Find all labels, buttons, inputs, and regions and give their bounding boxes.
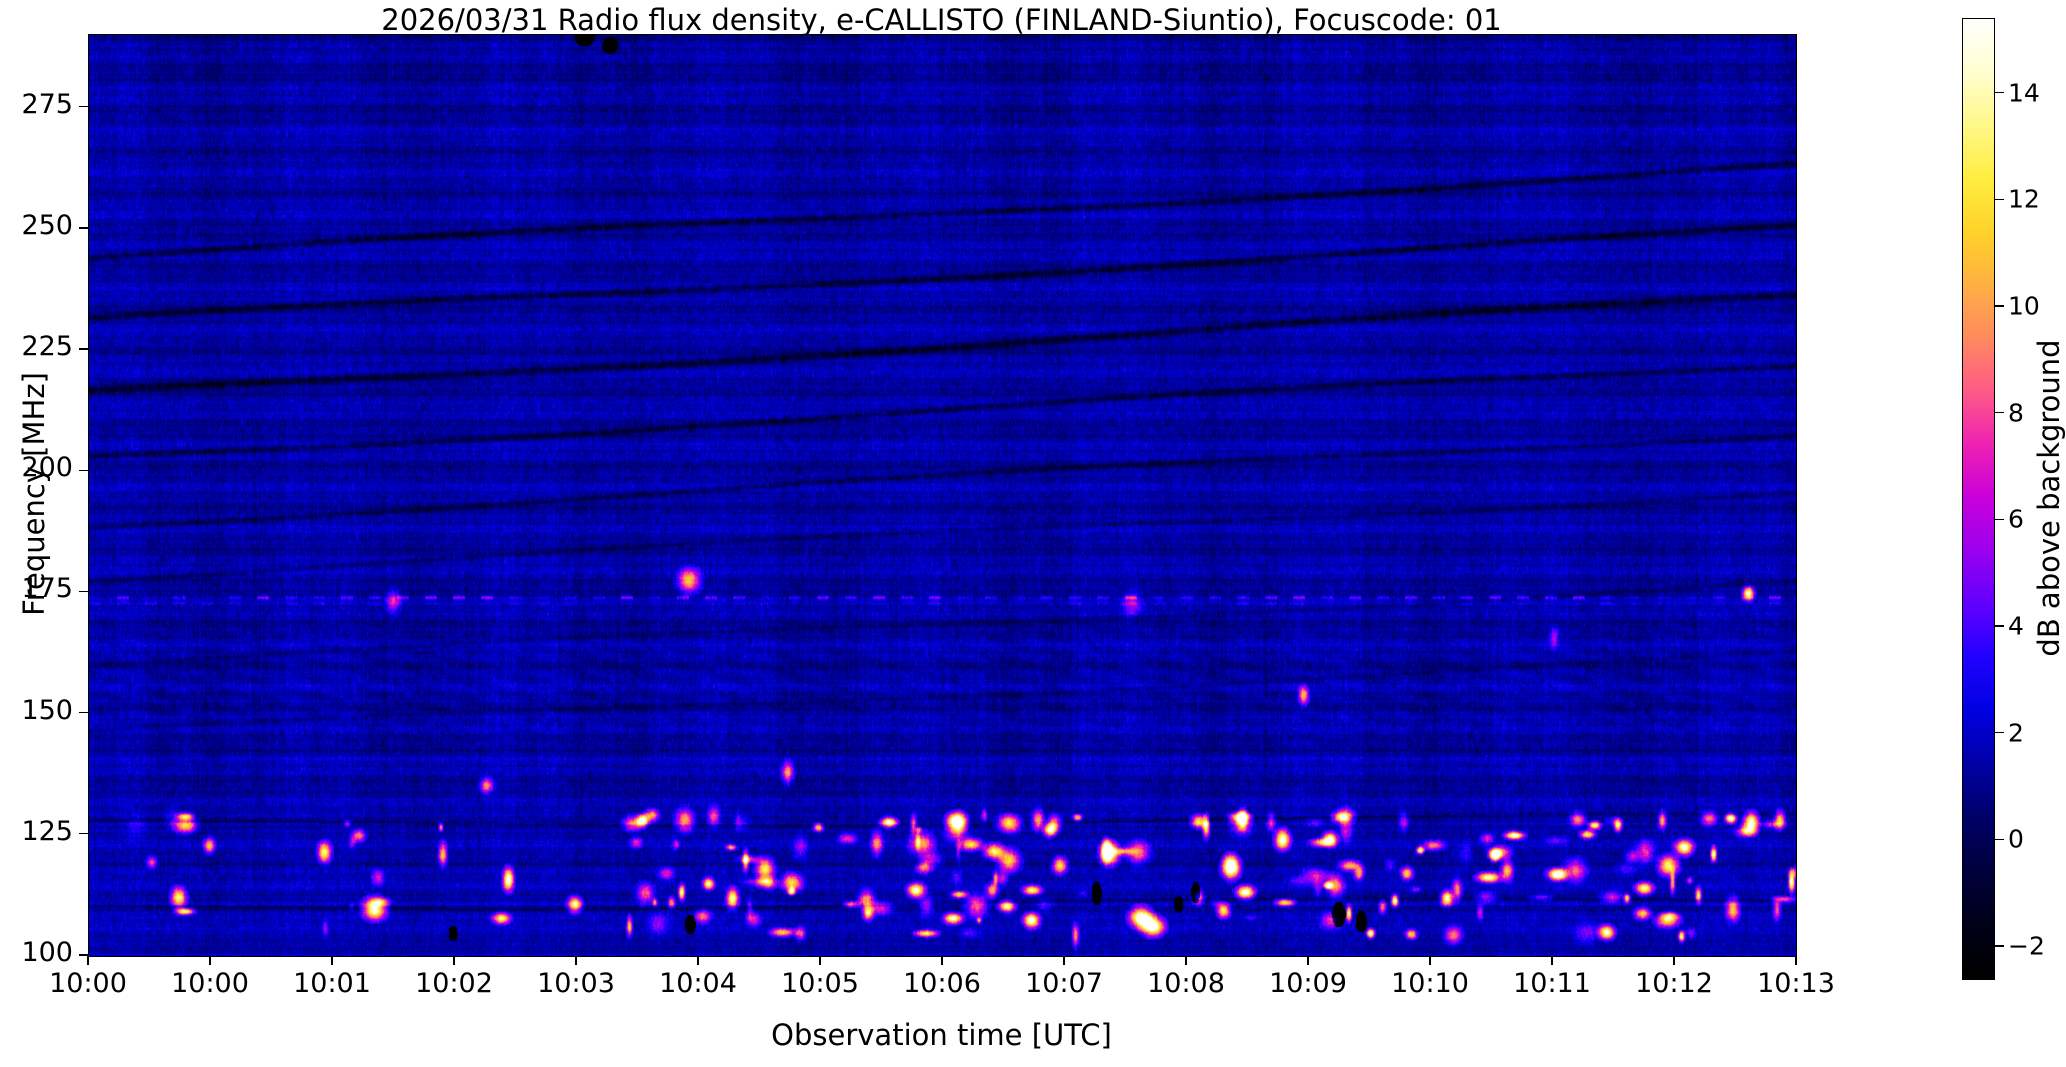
colorbar-tick-label: 4 <box>2008 612 2024 641</box>
colorbar-tick-label: 0 <box>2008 825 2024 854</box>
x-tick-mark <box>1673 956 1674 965</box>
colorbar-tick-mark <box>1995 945 2004 946</box>
x-tick-mark <box>1551 956 1552 965</box>
x-tick-label: 10:06 <box>903 968 981 999</box>
x-tick-mark <box>453 956 454 965</box>
x-tick-label: 10:12 <box>1635 968 1713 999</box>
spectrogram-figure: 2026/03/31 Radio flux density, e-CALLIST… <box>0 0 2066 1067</box>
x-tick-mark <box>331 956 332 965</box>
y-tick-mark <box>79 348 88 349</box>
x-tick-mark <box>941 956 942 965</box>
x-tick-mark <box>87 956 88 965</box>
x-tick-label: 10:01 <box>293 968 371 999</box>
x-axis-label: Observation time [UTC] <box>88 1018 1795 1052</box>
x-tick-label: 10:10 <box>1391 968 1469 999</box>
colorbar-tick-mark <box>1995 305 2004 306</box>
x-tick-mark <box>575 956 576 965</box>
colorbar <box>1962 18 1995 980</box>
colorbar-tick-mark <box>1995 839 2004 840</box>
colorbar-tick-mark <box>1995 412 2004 413</box>
x-tick-mark <box>1063 956 1064 965</box>
x-tick-label: 10:08 <box>1147 968 1225 999</box>
x-tick-label: 10:05 <box>781 968 859 999</box>
y-tick-mark <box>79 712 88 713</box>
x-tick-mark <box>1795 956 1796 965</box>
x-tick-label: 10:13 <box>1757 968 1835 999</box>
colorbar-tick-label: 6 <box>2008 505 2024 534</box>
x-tick-label: 10:00 <box>49 968 127 999</box>
colorbar-gradient <box>1963 19 1994 979</box>
page-title: 2026/03/31 Radio flux density, e-CALLIST… <box>88 4 1795 36</box>
colorbar-tick-mark <box>1995 519 2004 520</box>
colorbar-tick-label: 8 <box>2008 398 2024 427</box>
colorbar-label: dB above background <box>2032 339 2066 656</box>
colorbar-tick-mark <box>1995 199 2004 200</box>
x-tick-mark <box>697 956 698 965</box>
x-tick-mark <box>819 956 820 965</box>
x-tick-mark <box>1429 956 1430 965</box>
colorbar-tick-mark <box>1995 625 2004 626</box>
y-tick-mark <box>79 470 88 471</box>
x-tick-label: 10:11 <box>1513 968 1591 999</box>
colorbar-tick-label: 14 <box>2008 78 2040 107</box>
x-axis-ticks: 10:0010:0010:0110:0210:0310:0410:0510:06… <box>88 956 1795 1006</box>
colorbar-tick-label: 10 <box>2008 292 2040 321</box>
y-tick-mark <box>79 591 88 592</box>
spectrogram-canvas <box>89 35 1796 956</box>
x-tick-label: 10:09 <box>1269 968 1347 999</box>
y-axis-label: Frequency [MHz] <box>14 34 54 955</box>
x-tick-mark <box>209 956 210 965</box>
y-tick-mark <box>79 833 88 834</box>
x-tick-mark <box>1185 956 1186 965</box>
x-tick-mark <box>1307 956 1308 965</box>
colorbar-tick-label: 12 <box>2008 185 2040 214</box>
y-tick-mark <box>79 106 88 107</box>
x-tick-label: 10:00 <box>171 968 249 999</box>
x-tick-label: 10:03 <box>537 968 615 999</box>
colorbar-tick-mark <box>1995 92 2004 93</box>
x-tick-label: 10:07 <box>1025 968 1103 999</box>
colorbar-tick-mark <box>1995 732 2004 733</box>
colorbar-tick-label: −2 <box>2008 932 2045 961</box>
spectrogram-plot-area <box>88 34 1797 957</box>
x-tick-label: 10:02 <box>415 968 493 999</box>
colorbar-tick-label: 2 <box>2008 718 2024 747</box>
x-tick-label: 10:04 <box>659 968 737 999</box>
y-tick-mark <box>79 227 88 228</box>
